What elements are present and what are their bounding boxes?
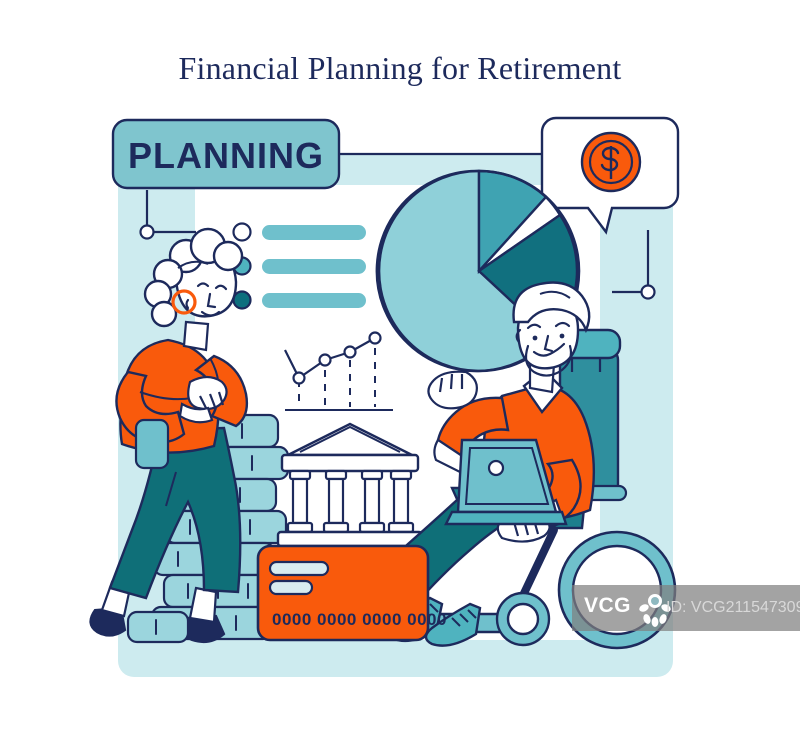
- woman-neck: [184, 322, 208, 350]
- man-hand-open: [428, 372, 476, 409]
- list-bar: [262, 293, 366, 308]
- laptop-camera-icon: [489, 461, 503, 475]
- credit-card-number: 0000 0000 0000 0000: [272, 610, 447, 629]
- dollar-coin-icon: [582, 133, 640, 191]
- list-bar: [262, 225, 366, 240]
- retirement-planning-illustration: PLANNING: [0, 0, 800, 743]
- watermark: VCG ID: VCG211547309114: [572, 585, 800, 631]
- bank-architrave: [282, 455, 418, 471]
- bank-base: [278, 532, 422, 546]
- planning-badge[interactable]: PLANNING: [113, 120, 339, 188]
- list-bar: [262, 259, 366, 274]
- watermark-id: ID: VCG211547309114: [666, 599, 800, 617]
- coin-bottom-left: [128, 612, 188, 642]
- woman-hands: [188, 377, 226, 409]
- credit-card-stripe-top: [270, 562, 328, 575]
- wheelchair-caster-hub: [508, 604, 538, 634]
- illustration-canvas: Financial Planning for Retirement PLANNI…: [0, 0, 800, 743]
- credit-card-stripe-bottom: [270, 581, 312, 594]
- side-block: [136, 420, 168, 468]
- credit-card: 0000 0000 0000 0000: [258, 546, 447, 640]
- woman-sock-right: [190, 588, 216, 622]
- bullet-outline-icon: [234, 224, 251, 241]
- bullet-dark-icon: [234, 292, 251, 309]
- planning-badge-label: PLANNING: [128, 135, 324, 176]
- watermark-brand: VCG: [584, 594, 631, 618]
- laptop-base: [446, 512, 566, 524]
